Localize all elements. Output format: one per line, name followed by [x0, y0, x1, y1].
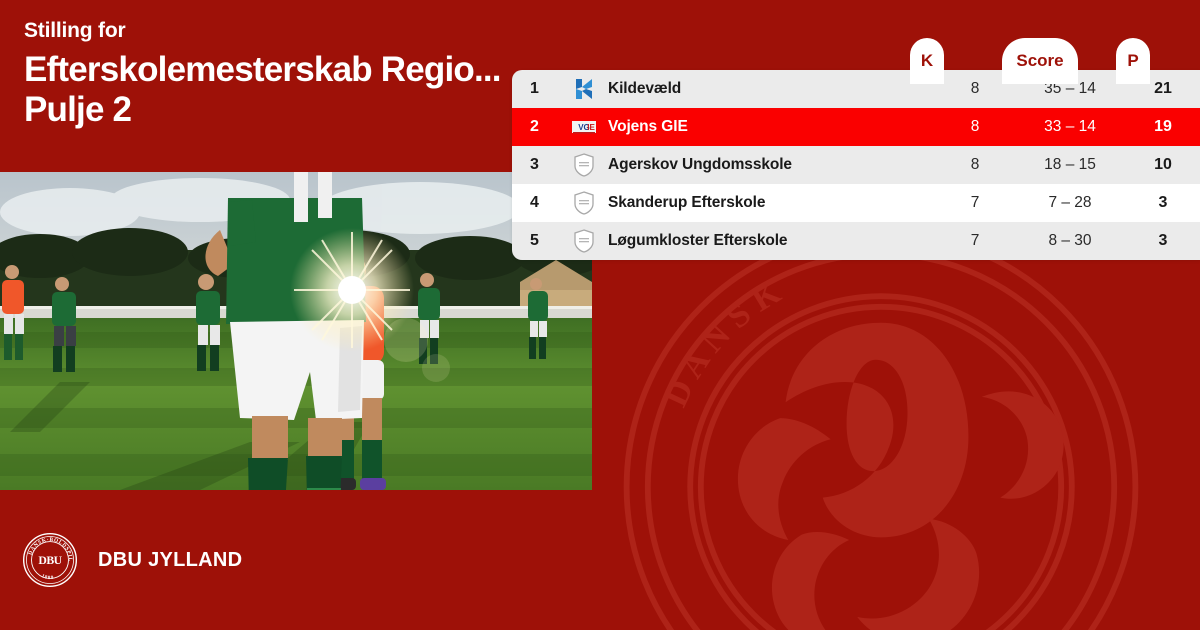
row-rank: 1 [512, 80, 560, 98]
row-score: 7 – 28 [1014, 194, 1126, 212]
header-block: Stilling for Efterskolemesterskab Regio.… [24, 18, 584, 131]
row-played: 8 [936, 156, 1014, 174]
row-points: 3 [1126, 232, 1200, 250]
column-header-points[interactable]: P [1116, 38, 1150, 84]
dbu-logo-icon: DANSK·BOLDSPIL·UNION 1889 DBU [22, 532, 78, 588]
row-score: 8 – 30 [1014, 232, 1126, 250]
table-row[interactable]: 4 Skanderup Efterskole 7 7 – 28 3 [512, 184, 1200, 222]
row-score: 33 – 14 [1014, 118, 1126, 136]
row-points: 19 [1126, 118, 1200, 136]
column-header-played[interactable]: K [910, 38, 944, 84]
shield-placeholder-icon [560, 190, 608, 216]
svg-text:DBU: DBU [38, 554, 62, 567]
row-points: 3 [1126, 194, 1200, 212]
standings-table: 1 Kildevæld 8 35 – 14 21 2 VG IE [512, 70, 1200, 260]
row-rank: 5 [512, 232, 560, 250]
page-title-line-2: Pulje 2 [24, 89, 584, 131]
row-played: 8 [936, 118, 1014, 136]
standings-graphic: D A N S K 1889 Stilling for Efterskoleme… [0, 0, 1200, 630]
row-played: 7 [936, 232, 1014, 250]
svg-text:1889: 1889 [41, 573, 55, 581]
shield-placeholder-icon [560, 152, 608, 178]
footer-org-name: DBU JYLLAND [98, 549, 242, 572]
vojens-gie-logo: VG IE [560, 114, 608, 140]
table-row[interactable]: 5 Løgumkloster Efterskole 7 8 – 30 3 [512, 222, 1200, 260]
row-rank: 3 [512, 156, 560, 174]
page-title-line-1: Efterskolemesterskab Regio... [24, 49, 584, 91]
table-row[interactable]: 1 Kildevæld 8 35 – 14 21 [512, 70, 1200, 108]
svg-text:IE: IE [587, 123, 595, 132]
kildevaeld-logo [560, 76, 608, 102]
column-header-score[interactable]: Score [1002, 38, 1078, 84]
row-played: 7 [936, 194, 1014, 212]
row-team-name: Løgumkloster Efterskole [608, 232, 936, 250]
football-match-photo [0, 172, 592, 490]
row-team-name: Kildevæld [608, 80, 936, 98]
svg-text:D A N S K: D A N S K [656, 273, 787, 413]
row-rank: 2 [512, 118, 560, 136]
row-points: 10 [1126, 156, 1200, 174]
row-rank: 4 [512, 194, 560, 212]
table-row[interactable]: 2 VG IE Vojens GIE 8 33 – 14 19 [512, 108, 1200, 146]
shield-placeholder-icon [560, 228, 608, 254]
header-kicker: Stilling for [24, 18, 584, 44]
footer-bar: DANSK·BOLDSPIL·UNION 1889 DBU DBU JYLLAN… [0, 490, 1200, 630]
row-team-name: Vojens GIE [608, 118, 936, 136]
row-team-name: Skanderup Efterskole [608, 194, 936, 212]
row-team-name: Agerskov Ungdomsskole [608, 156, 936, 174]
table-row[interactable]: 3 Agerskov Ungdomsskole 8 18 – 15 10 [512, 146, 1200, 184]
row-score: 18 – 15 [1014, 156, 1126, 174]
